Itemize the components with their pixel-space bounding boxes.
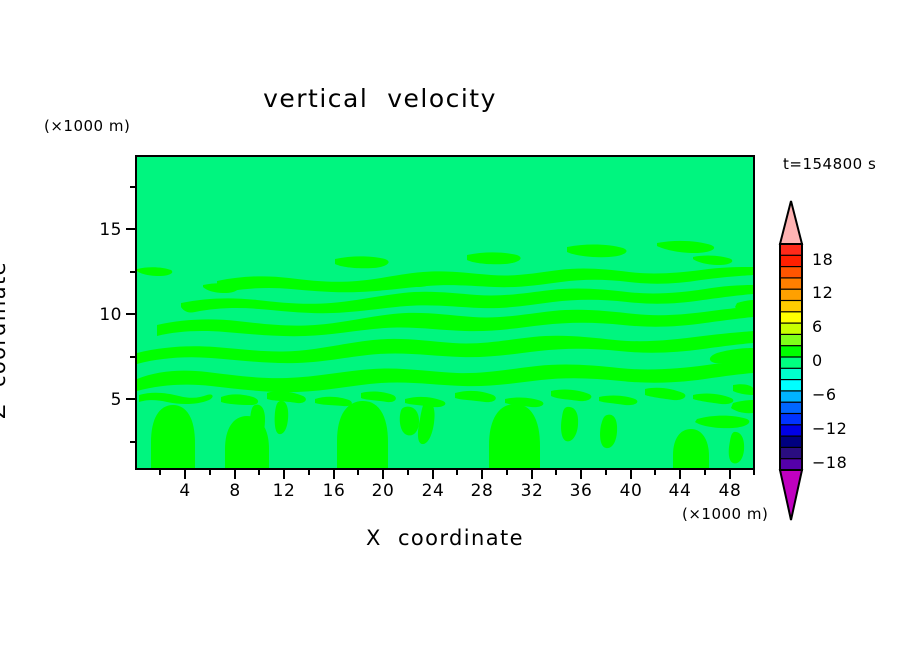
x-minor-tick [209, 470, 211, 475]
x-minor-tick [555, 470, 557, 475]
colorbar-band [780, 414, 802, 426]
colorbar-svg [778, 198, 812, 523]
y-minor-tick [130, 356, 135, 358]
x-minor-tick [506, 470, 508, 475]
x-major-tick [531, 470, 533, 479]
x-major-tick [729, 470, 731, 479]
figure-root: vertical velocity (×1000 m) Z coordinate… [0, 0, 904, 654]
y-minor-tick [130, 271, 135, 273]
colorbar-bands [780, 244, 802, 470]
x-minor-tick [308, 470, 310, 475]
colorbar-band [780, 436, 802, 448]
colorbar-band [780, 289, 802, 301]
contour-plot-area[interactable] [135, 155, 755, 470]
x-major-tick [234, 470, 236, 479]
y-axis-title: Z coordinate [0, 240, 10, 440]
y-tick-label: 15 [82, 220, 122, 240]
colorbar-tick-label: −18 [812, 453, 847, 472]
contour-field [137, 157, 753, 468]
y-tick-label: 5 [82, 390, 122, 410]
x-major-tick [333, 470, 335, 479]
colorbar-tick-label: 12 [812, 283, 833, 302]
x-minor-tick [704, 470, 706, 475]
colorbar-band [780, 267, 802, 279]
colorbar-band [780, 459, 802, 471]
colorbar-band [780, 425, 802, 437]
colorbar-band [780, 278, 802, 290]
x-major-tick [580, 470, 582, 479]
colorbar-band [780, 380, 802, 392]
colorbar-band [780, 368, 802, 380]
colorbar-band [780, 334, 802, 346]
colorbar-band [780, 323, 802, 335]
x-major-tick [481, 470, 483, 479]
x-tick-label: 40 [608, 481, 654, 501]
y-minor-tick [130, 441, 135, 443]
colorbar-tick-label: 18 [812, 250, 833, 269]
x-tick-label: 4 [162, 481, 208, 501]
x-tick-label: 12 [261, 481, 307, 501]
colorbar-under-arrow [780, 470, 802, 520]
x-minor-tick [605, 470, 607, 475]
x-major-tick [283, 470, 285, 479]
colorbar-tick-label: −6 [812, 385, 837, 404]
time-annotation: t=154800 s [783, 155, 876, 173]
x-tick-label: 32 [509, 481, 555, 501]
x-axis-unit-label: (×1000 m) [682, 505, 768, 523]
colorbar-band [780, 244, 802, 256]
x-major-tick [382, 470, 384, 479]
y-major-tick [126, 313, 135, 315]
x-tick-label: 24 [410, 481, 456, 501]
colorbar-band [780, 301, 802, 313]
x-tick-label: 20 [360, 481, 406, 501]
x-major-tick [432, 470, 434, 479]
y-axis-unit-label: (×1000 m) [44, 117, 130, 135]
x-minor-tick [258, 470, 260, 475]
x-tick-label: 36 [558, 481, 604, 501]
page-title: vertical velocity [0, 84, 760, 113]
colorbar-tick-label: 0 [812, 351, 823, 370]
x-tick-label: 8 [212, 481, 258, 501]
x-minor-tick [456, 470, 458, 475]
y-minor-tick [130, 186, 135, 188]
x-tick-label: 16 [311, 481, 357, 501]
colorbar-band [780, 255, 802, 267]
colorbar-over-arrow [780, 201, 802, 244]
y-major-tick [126, 398, 135, 400]
x-axis-title: X coordinate [135, 526, 755, 550]
x-major-tick [630, 470, 632, 479]
x-minor-tick [357, 470, 359, 475]
colorbar-band [780, 447, 802, 459]
colorbar[interactable] [778, 198, 812, 523]
x-tick-label: 28 [459, 481, 505, 501]
x-major-tick [679, 470, 681, 479]
colorbar-band [780, 346, 802, 358]
x-minor-tick [654, 470, 656, 475]
colorbar-tick-label: −12 [812, 419, 847, 438]
colorbar-band [780, 312, 802, 324]
y-major-tick [126, 228, 135, 230]
colorbar-band [780, 391, 802, 403]
x-minor-tick [753, 470, 755, 475]
x-major-tick [184, 470, 186, 479]
x-tick-label: 44 [657, 481, 703, 501]
x-tick-label: 48 [707, 481, 753, 501]
colorbar-tick-label: 6 [812, 317, 823, 336]
x-minor-tick [407, 470, 409, 475]
colorbar-band [780, 357, 802, 369]
colorbar-band [780, 402, 802, 414]
y-tick-label: 10 [82, 305, 122, 325]
x-minor-tick [159, 470, 161, 475]
